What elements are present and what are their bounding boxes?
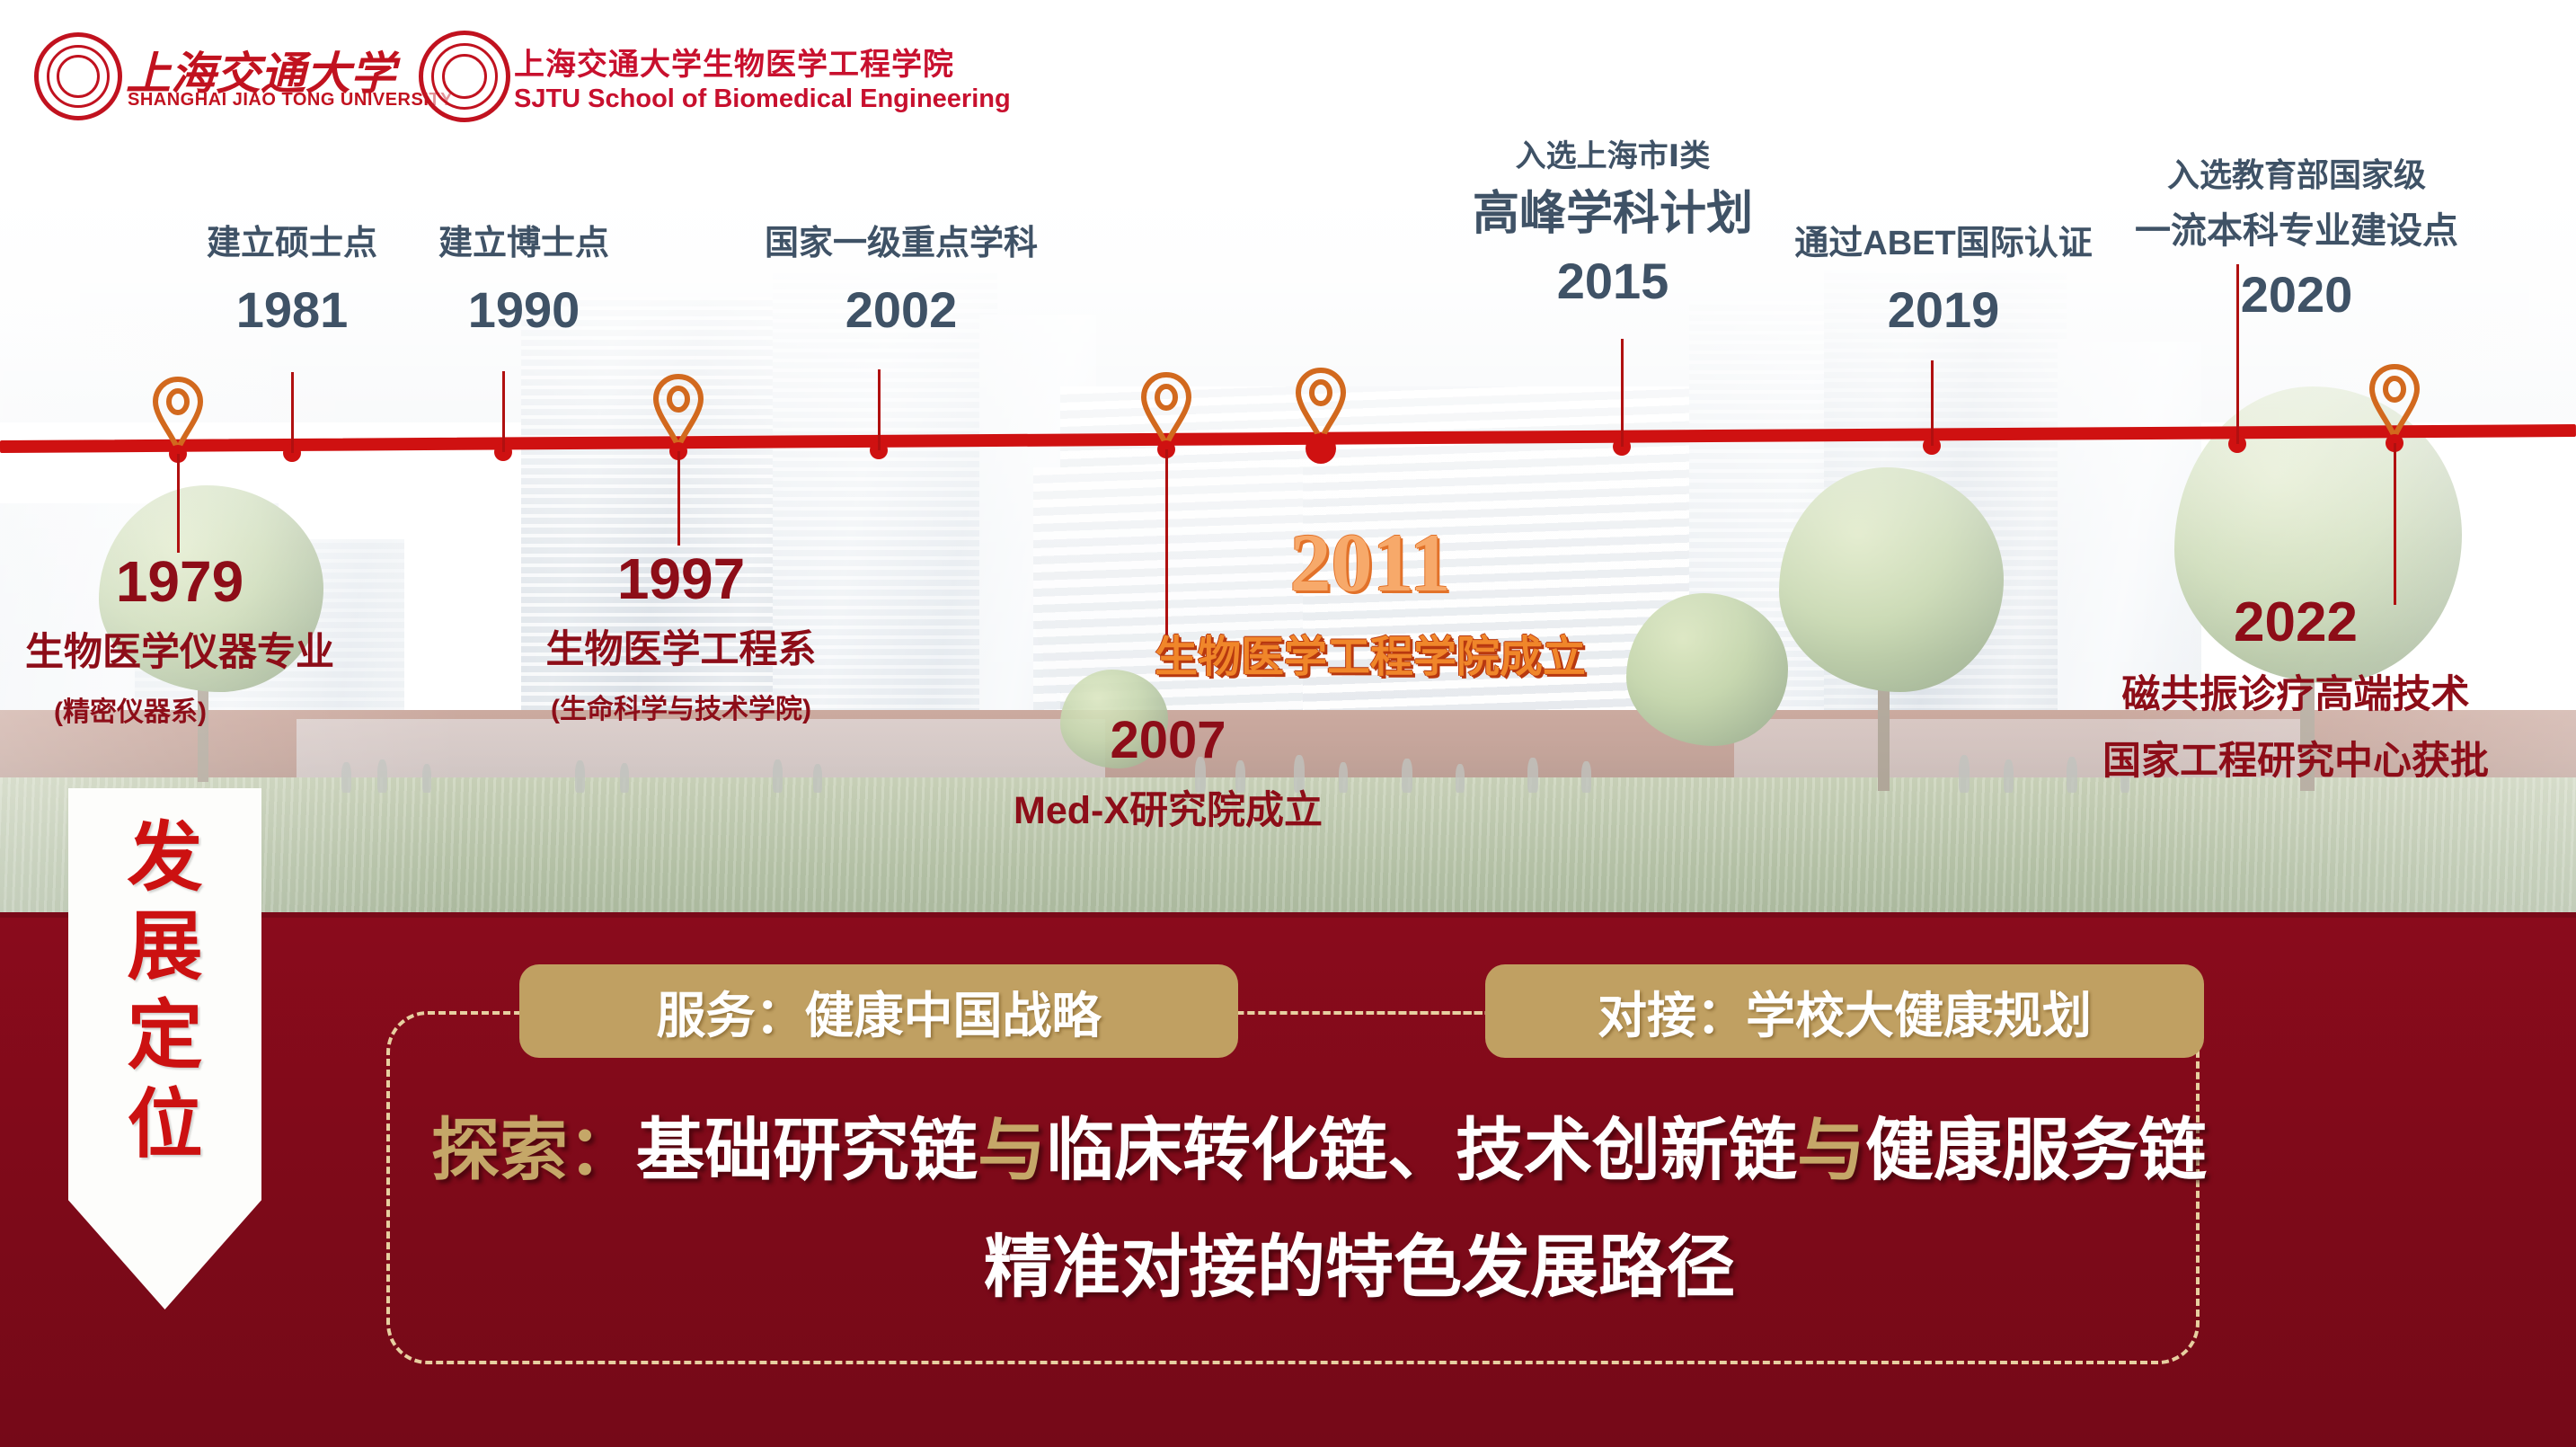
location-pin-icon xyxy=(651,374,706,449)
ribbon-char-2: 展 xyxy=(68,902,261,991)
timeline-caption-1979: 生物医学仪器专业 xyxy=(25,630,334,677)
statement-l1-seg-3: 与 xyxy=(978,1113,1046,1189)
timeline-year-2020: 2020 xyxy=(2135,270,2458,320)
timeline-year-2002: 2002 xyxy=(765,285,1038,335)
timeline-caption-2015: 高峰学科计划 xyxy=(1473,188,1753,240)
timeline-label-1979: 1979 生物医学仪器专业 (精密仪器系) xyxy=(25,553,334,729)
timeline-year-2011: 2011 xyxy=(1155,521,1586,604)
slide-root: 上海交通大学 SHANGHAI JIAO TONG UNIVERSITY 上海交… xyxy=(0,0,2576,1447)
timeline-label-2015: 入选上海市Ⅰ类 高峰学科计划 2015 xyxy=(1473,139,1753,306)
timeline-year-1979: 1979 xyxy=(25,553,334,610)
ribbon-char-1: 发 xyxy=(68,813,261,902)
statement-l2-seg-1: 精准对接的特色发展路径 xyxy=(984,1230,1735,1306)
statement-line-1: 探索：基础研究链与临床转化链、技术创新链与健康服务链 xyxy=(431,1117,2207,1185)
pill-school-health-plan[interactable]: 对接：学校大健康规划 xyxy=(1485,964,2204,1058)
timeline-sub-2022: 国家工程研究中心获批 xyxy=(2102,739,2489,786)
location-pin-icon xyxy=(150,377,206,452)
timeline-caption-2002: 国家一级重点学科 xyxy=(765,225,1038,263)
location-pin-icon xyxy=(1293,368,1349,443)
timeline-label-2002: 国家一级重点学科 2002 xyxy=(765,225,1038,335)
statement-l1-seg-4: 临床转化链、技术创新链 xyxy=(1046,1113,1797,1189)
statement-l1-seg-1: 探索： xyxy=(431,1113,636,1189)
timeline-caption-1981: 建立硕士点 xyxy=(207,225,377,263)
timeline-year-1990: 1990 xyxy=(438,285,609,335)
timeline-label-1997: 1997 生物医学工程系 (生命科学与技术学院) xyxy=(546,550,817,726)
timeline: 1979 生物医学仪器专业 (精密仪器系) 建立硕士点 1981 建立博士点 1… xyxy=(0,0,2576,912)
timeline-year-2007: 2007 xyxy=(1014,715,1323,767)
timeline-caption-1997: 生物医学工程系 xyxy=(546,627,817,674)
timeline-eyebrow-2015: 入选上海市Ⅰ类 xyxy=(1473,139,1753,173)
timeline-label-2020: 入选教育部国家级 一流本科专业建设点 2020 xyxy=(2135,157,2458,320)
timeline-caption-1990: 建立博士点 xyxy=(438,225,609,263)
timeline-year-1981: 1981 xyxy=(207,285,377,335)
timeline-caption-2011: 生物医学工程学院成立 xyxy=(1155,635,1586,682)
statement-l1-seg-6: 健康服务链 xyxy=(1865,1113,2207,1189)
ribbon-char-4: 位 xyxy=(68,1080,261,1169)
ribbon-label: 发 展 定 位 xyxy=(68,813,261,1169)
timeline-year-2022: 2022 xyxy=(2102,595,2489,651)
timeline-caption-2022: 磁共振诊疗高端技术 xyxy=(2102,672,2489,719)
timeline-caption-2020: 一流本科专业建设点 xyxy=(2135,211,2458,252)
location-pin-icon xyxy=(2367,364,2422,439)
timeline-label-2019: 通过ABET国际认证 2019 xyxy=(1794,225,2092,335)
timeline-year-1997: 1997 xyxy=(546,550,817,608)
pill-service-strategy[interactable]: 服务：健康中国战略 xyxy=(519,964,1238,1058)
statement-l1-seg-2: 基础研究链 xyxy=(636,1113,978,1189)
location-pin-icon xyxy=(1138,372,1194,448)
timeline-label-2011: 2011 生物医学工程学院成立 xyxy=(1155,521,1586,682)
timeline-label-1981: 建立硕士点 1981 xyxy=(207,225,377,335)
timeline-caption-2007: Med-X研究院成立 xyxy=(1014,788,1323,835)
timeline-year-2019: 2019 xyxy=(1794,285,2092,335)
timeline-label-2022: 2022 磁共振诊疗高端技术 国家工程研究中心获批 xyxy=(2102,595,2489,785)
pill-connector-dash xyxy=(1204,1011,1483,1015)
timeline-year-2015: 2015 xyxy=(1473,256,1753,306)
timeline-sub-1997: (生命科学与技术学院) xyxy=(546,694,817,726)
ribbon-char-3: 定 xyxy=(68,991,261,1080)
timeline-label-2007: 2007 Med-X研究院成立 xyxy=(1014,715,1323,835)
statement-l1-seg-5: 与 xyxy=(1797,1113,1865,1189)
timeline-eyebrow-2020: 入选教育部国家级 xyxy=(2135,157,2458,193)
timeline-sub-1979: (精密仪器系) xyxy=(0,697,334,729)
timeline-caption-2019: 通过ABET国际认证 xyxy=(1794,225,2092,263)
statement-line-2: 精准对接的特色发展路径 xyxy=(984,1234,1735,1302)
timeline-axis xyxy=(0,424,2576,453)
timeline-label-1990: 建立博士点 1990 xyxy=(438,225,609,335)
